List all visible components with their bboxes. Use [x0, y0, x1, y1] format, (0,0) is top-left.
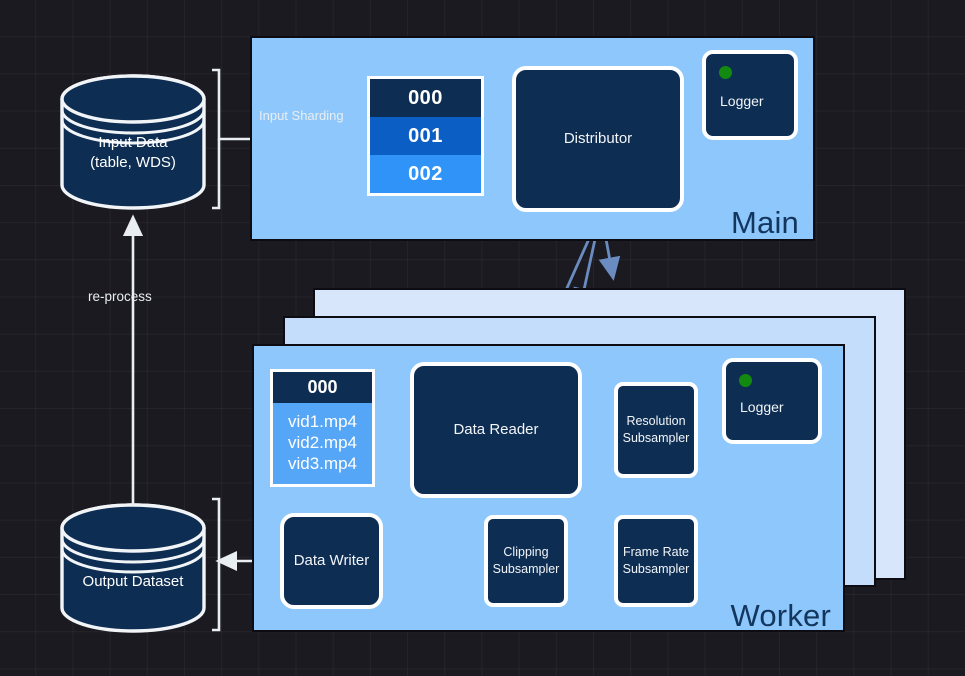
worker-shard-file: vid1.mp4 [288, 412, 357, 432]
worker-shard-files: vid1.mp4 vid2.mp4 vid3.mp4 [273, 403, 372, 484]
frame-rate-subsampler-label-line1: Frame Rate [623, 544, 689, 561]
input-shard-stack: 000 001 002 [367, 76, 484, 196]
clipping-subsampler-label-line1: Clipping [503, 544, 548, 561]
reprocess-edge-label: re-process [88, 289, 152, 304]
shard-row-002[interactable]: 002 [370, 155, 481, 193]
logger-status-dot [719, 66, 732, 79]
output-database-label-line1: Output Dataset [63, 572, 203, 592]
output-database-shape [62, 505, 204, 631]
input-database-label-line2: (table, WDS) [63, 153, 203, 173]
main-logger-node[interactable]: Logger [702, 50, 798, 140]
input-database-label-line1: Input Data [63, 133, 203, 153]
clipping-subsampler-label-line2: Subsampler [493, 561, 560, 578]
resolution-subsampler-label-line2: Subsampler [623, 430, 690, 447]
worker-shard-file: vid3.mp4 [288, 454, 357, 474]
worker-panel-title: Worker [730, 598, 831, 634]
distributor-label: Distributor [564, 129, 632, 150]
frame-rate-subsampler-node[interactable]: Frame Rate Subsampler [614, 515, 698, 607]
output-database-label: Output Dataset [63, 572, 203, 592]
shard-row-000[interactable]: 000 [370, 79, 481, 117]
worker-logger-node[interactable]: Logger [722, 358, 822, 444]
shard-row-001[interactable]: 001 [370, 117, 481, 155]
main-logger-label: Logger [720, 92, 764, 111]
logger-status-dot [739, 374, 752, 387]
clipping-subsampler-node[interactable]: Clipping Subsampler [484, 515, 568, 607]
data-reader-node[interactable]: Data Reader [410, 362, 582, 498]
main-panel-title: Main [731, 205, 799, 241]
worker-shard-header: 000 [273, 372, 372, 403]
resolution-subsampler-label-line1: Resolution [626, 413, 685, 430]
distributor-node[interactable]: Distributor [512, 66, 684, 212]
data-writer-label: Data Writer [294, 551, 370, 572]
input-database-label: Input Data (table, WDS) [63, 133, 203, 172]
worker-shard-list[interactable]: 000 vid1.mp4 vid2.mp4 vid3.mp4 [270, 369, 375, 487]
input-sharding-label: Input Sharding [259, 108, 344, 123]
worker-shard-file: vid2.mp4 [288, 433, 357, 453]
data-reader-label: Data Reader [453, 420, 538, 441]
resolution-subsampler-node[interactable]: Resolution Subsampler [614, 382, 698, 478]
frame-rate-subsampler-label-line2: Subsampler [623, 561, 690, 578]
worker-logger-label: Logger [740, 398, 784, 417]
data-writer-node[interactable]: Data Writer [280, 513, 383, 609]
